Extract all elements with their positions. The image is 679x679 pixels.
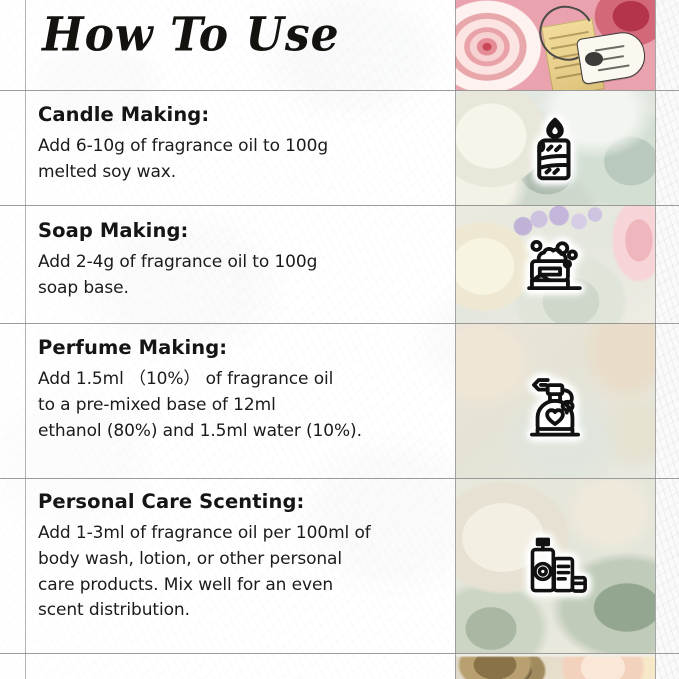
section-candle-making: Candle Making: Add 6-10g of fragrance oi… bbox=[38, 103, 445, 186]
text-content-column: How To Use Candle Making: Add 6-10g of f… bbox=[0, 0, 455, 679]
section-body: Add 1.5ml （10%） of fragrance oil to a pr… bbox=[38, 367, 445, 444]
section-body: Add 6-10g of fragrance oil to 100g melte… bbox=[38, 134, 445, 186]
candle-icon bbox=[516, 110, 594, 188]
how-to-use-infographic: How To Use Candle Making: Add 6-10g of f… bbox=[0, 0, 679, 679]
section-body: Add 2-4g of fragrance oil to 100g soap b… bbox=[38, 250, 445, 302]
personal-care-products-icon bbox=[516, 528, 594, 606]
photo-band-roses bbox=[455, 0, 655, 90]
photo-column-right-rule bbox=[655, 0, 656, 679]
section-perfume-making: Perfume Making: Add 1.5ml （10%） of fragr… bbox=[38, 336, 445, 444]
section-heading: Personal Care Scenting: bbox=[38, 490, 445, 513]
page-title: How To Use bbox=[42, 8, 340, 62]
section-heading: Soap Making: bbox=[38, 219, 445, 242]
section-heading: Perfume Making: bbox=[38, 336, 445, 359]
perfume-bottle-icon bbox=[516, 372, 594, 450]
photo-column-left-rule bbox=[455, 0, 456, 679]
soap-bar-icon bbox=[516, 230, 594, 308]
section-personal-care-scenting: Personal Care Scenting: Add 1-3ml of fra… bbox=[38, 490, 445, 624]
photo-band-book bbox=[455, 653, 655, 679]
section-soap-making: Soap Making: Add 2-4g of fragrance oil t… bbox=[38, 219, 445, 302]
section-heading: Candle Making: bbox=[38, 103, 445, 126]
section-body: Add 1-3ml of fragrance oil per 100ml of … bbox=[38, 521, 445, 624]
right-edge-pattern-strip bbox=[655, 0, 679, 679]
